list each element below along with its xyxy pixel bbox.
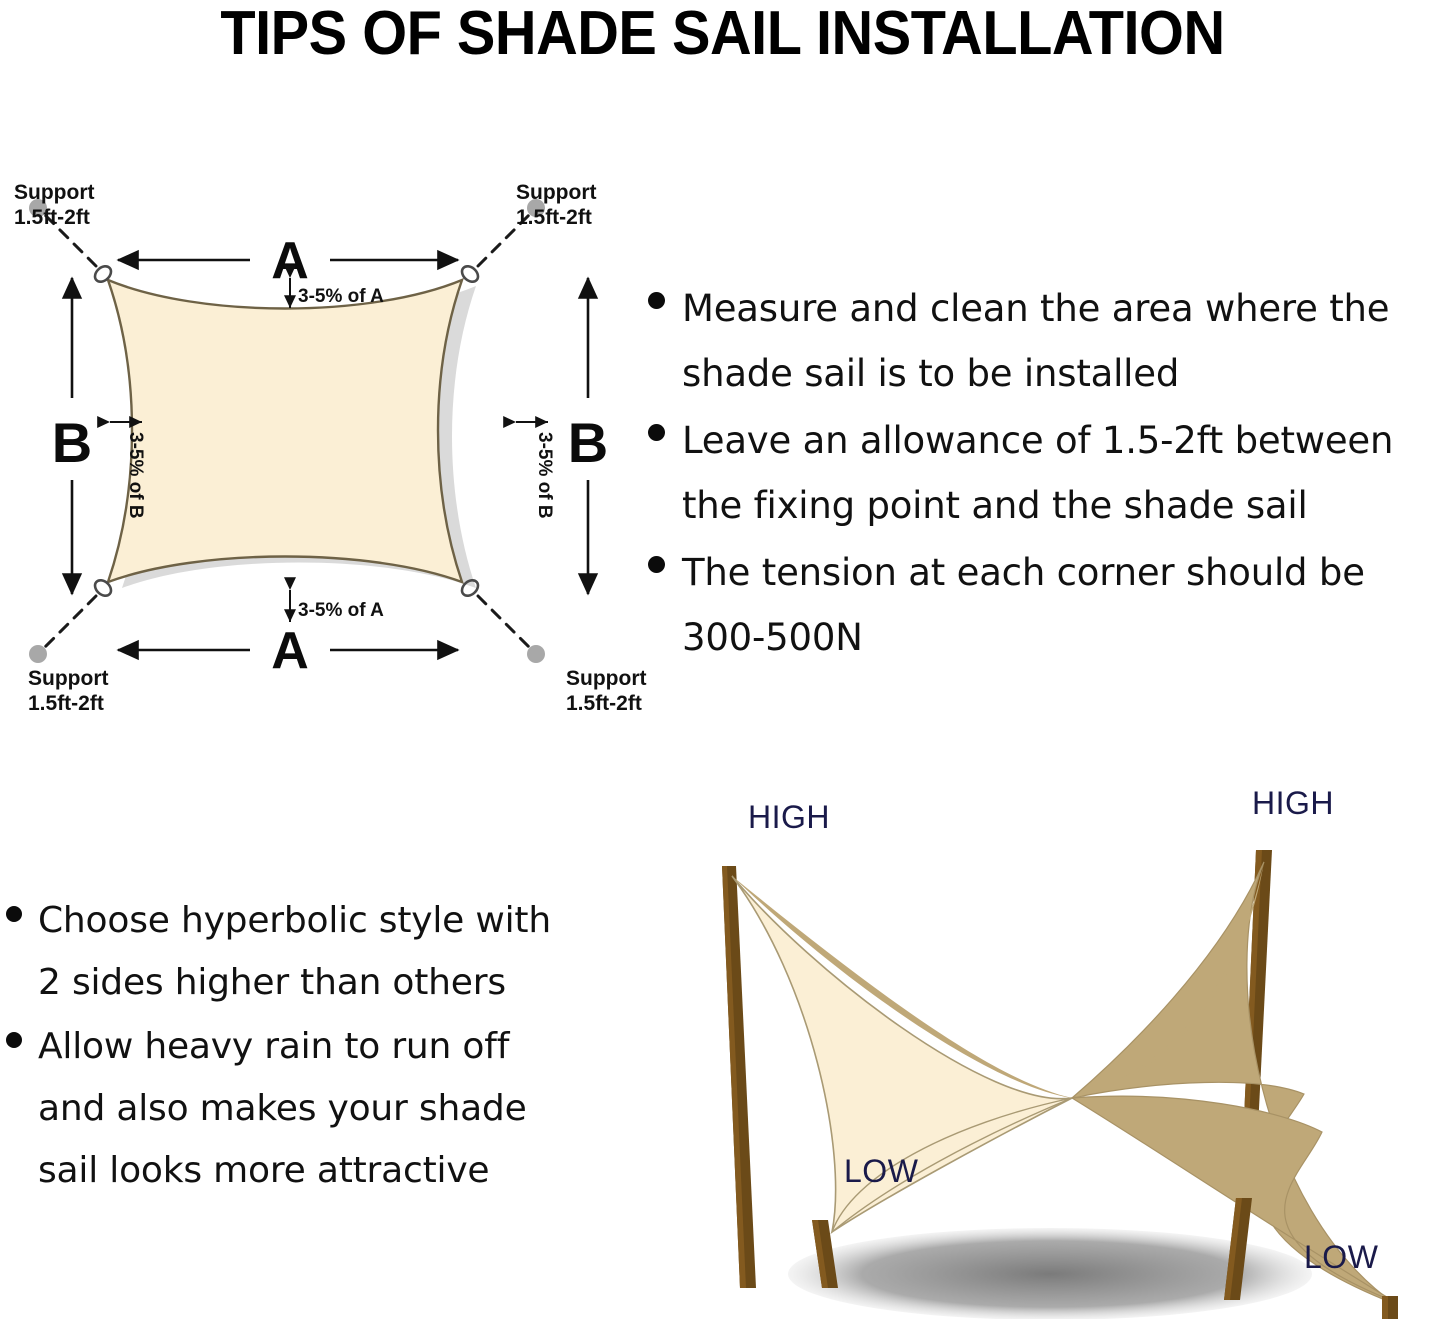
support-label-title: Support <box>566 666 646 691</box>
list-item-text: Measure and clean the area where the sha… <box>682 276 1389 406</box>
hyperbolic-sail-diagram: HIGH HIGH LOW LOW <box>660 780 1445 1319</box>
support-label-bottom-right: Support 1.5ft-2ft <box>566 666 646 716</box>
list-item-text: The tension at each corner should be 300… <box>682 540 1365 670</box>
curvature-label-left: 3-5% of B <box>125 432 146 519</box>
support-label-title: Support <box>14 180 94 205</box>
height-label-high-back-right: HIGH <box>1252 785 1334 821</box>
curvature-label-top: 3-5% of A <box>298 286 384 307</box>
post-back-left <box>722 866 756 1288</box>
page-title: TIPS OF SHADE SAIL INSTALLATION <box>51 0 1395 66</box>
support-dot-bottom-left <box>29 645 47 663</box>
height-label-low-front-left: LOW <box>844 1153 919 1189</box>
support-label-top-right: Support 1.5ft-2ft <box>516 180 596 230</box>
curvature-label-bottom: 3-5% of A <box>298 600 384 621</box>
sail-body <box>108 280 462 582</box>
height-label-low-front-right: LOW <box>1304 1239 1379 1275</box>
bullet-dot-icon <box>6 1032 22 1048</box>
support-label-bottom-left: Support 1.5ft-2ft <box>28 666 108 716</box>
list-item-text: Choose hyperbolic style with 2 sides hig… <box>38 890 551 1014</box>
support-label-range: 1.5ft-2ft <box>14 205 94 230</box>
dimension-label-b-left: B <box>52 411 92 474</box>
list-item: Measure and clean the area where the sha… <box>648 276 1445 406</box>
list-item: Choose hyperbolic style with 2 sides hig… <box>6 890 636 1014</box>
list-item-text: Leave an allowance of 1.5-2ft between th… <box>682 408 1393 538</box>
bullet-dot-icon <box>648 556 665 573</box>
support-label-title: Support <box>516 180 596 205</box>
list-item: Leave an allowance of 1.5-2ft between th… <box>648 408 1445 538</box>
list-item-text: Allow heavy rain to run off and also mak… <box>38 1016 527 1202</box>
dimension-label-a-bottom: A <box>271 622 309 680</box>
support-label-range: 1.5ft-2ft <box>566 691 646 716</box>
post-front-right <box>1382 1296 1398 1319</box>
leader-bottom-left <box>44 596 96 648</box>
support-label-range: 1.5ft-2ft <box>516 205 596 230</box>
list-item: Allow heavy rain to run off and also mak… <box>6 1016 636 1202</box>
support-dot-bottom-right <box>527 645 545 663</box>
installation-tips-list: Measure and clean the area where the sha… <box>648 276 1445 672</box>
rectangle-sail-diagram: A 3-5% of A A 3-5% of A B <box>0 150 650 730</box>
bullet-dot-icon <box>648 424 665 441</box>
bullet-dot-icon <box>6 906 22 922</box>
curvature-label-right: 3-5% of B <box>534 432 555 519</box>
hyperbolic-style-tips-list: Choose hyperbolic style with 2 sides hig… <box>6 890 636 1204</box>
height-label-high-back-left: HIGH <box>748 799 830 835</box>
support-label-range: 1.5ft-2ft <box>28 691 108 716</box>
dimension-label-b-right: B <box>568 411 608 474</box>
bullet-dot-icon <box>648 292 665 309</box>
leader-bottom-right <box>478 596 530 648</box>
list-item: The tension at each corner should be 300… <box>648 540 1445 670</box>
support-label-top-left: Support 1.5ft-2ft <box>14 180 94 230</box>
infographic-page: TIPS OF SHADE SAIL INSTALLATION <box>0 0 1445 1319</box>
support-label-title: Support <box>28 666 108 691</box>
